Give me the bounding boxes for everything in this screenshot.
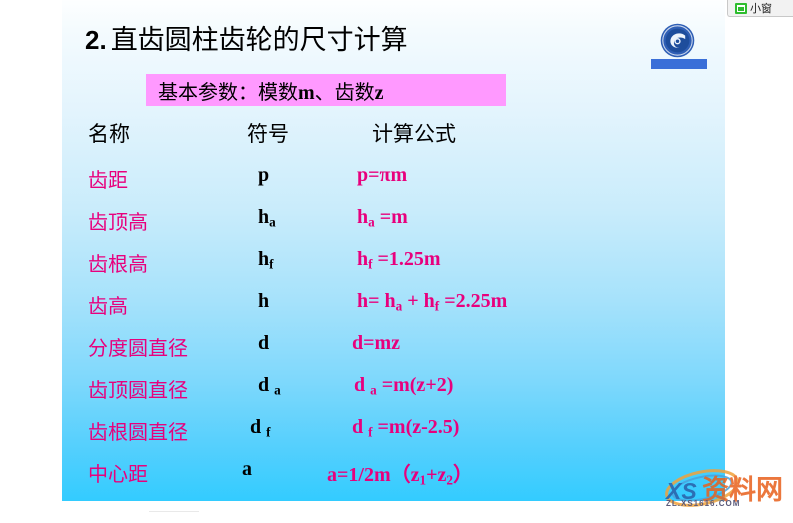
table-row: 齿根圆直径 d f d f =m(z-2.5) (62, 416, 725, 458)
emblem-icon (660, 23, 695, 58)
column-header-formula: 计算公式 (372, 118, 456, 148)
table-header-row: 名称 符号 计算公式 (62, 118, 725, 164)
row-symbol: a (242, 458, 252, 481)
row-name: 分度圆直径 (88, 332, 188, 361)
table-row: 齿高 h h= ha + hf =2.25m (62, 290, 725, 332)
row-symbol: d (258, 332, 269, 355)
row-formula: d f =m(z-2.5) (352, 416, 459, 440)
institution-emblem-logo (651, 23, 707, 70)
column-header-symbol: 符号 (247, 118, 289, 148)
row-formula: h= ha + hf =2.25m (357, 290, 507, 314)
table-row: 齿顶高 ha ha =m (62, 206, 725, 248)
row-symbol: d f (250, 416, 271, 440)
row-formula: p=πm (357, 164, 407, 187)
title-number: 2. (85, 25, 107, 55)
row-name: 齿高 (88, 290, 128, 319)
table-row: 齿根高 hf hf =1.25m (62, 248, 725, 290)
page-divider (149, 511, 199, 512)
row-formula: a=1/2m（z1+z2） (327, 458, 473, 488)
row-name: 齿顶圆直径 (88, 374, 188, 403)
floating-window-toolbar[interactable]: 小窗 (727, 0, 793, 17)
gear-dimension-table: 名称 符号 计算公式 齿距 p p=πm 齿顶高 ha ha =m 齿根高 hf… (62, 118, 725, 500)
title-text: 直齿圆柱齿轮的尺寸计算 (111, 25, 408, 56)
page-title: 2.直齿圆柱齿轮的尺寸计算 (85, 27, 408, 54)
row-symbol: ha (258, 206, 276, 230)
row-formula: hf =1.25m (357, 248, 441, 272)
basic-parameters-banner: 基本参数：模数m、齿数z (146, 74, 506, 106)
column-header-name: 名称 (88, 118, 130, 148)
logo-bar (651, 59, 707, 69)
row-name: 齿根高 (88, 248, 148, 277)
basic-parameters-text: 基本参数：模数m、齿数z (158, 76, 384, 105)
row-name: 中心距 (88, 458, 148, 487)
row-formula: d a =m(z+2) (354, 374, 453, 398)
row-name: 齿根圆直径 (88, 416, 188, 445)
table-row: 齿距 p p=πm (62, 164, 725, 206)
window-mode-label: 小窗 (750, 0, 772, 16)
window-restore-icon[interactable] (735, 3, 747, 14)
table-row: 齿顶圆直径 d a d a =m(z+2) (62, 374, 725, 416)
table-row: 中心距 a a=1/2m（z1+z2） (62, 458, 725, 500)
row-formula: ha =m (357, 206, 408, 230)
table-row: 分度圆直径 d d=mz (62, 332, 725, 374)
row-symbol: hf (258, 248, 274, 272)
row-name: 齿距 (88, 164, 128, 193)
row-symbol: p (258, 164, 269, 187)
row-name: 齿顶高 (88, 206, 148, 235)
row-symbol: d a (258, 374, 281, 398)
row-symbol: h (258, 290, 269, 313)
row-formula: d=mz (352, 332, 400, 355)
presentation-slide: 2.直齿圆柱齿轮的尺寸计算 基本参数：模数m、齿数z 名称 符号 计算公式 齿距… (62, 0, 725, 501)
